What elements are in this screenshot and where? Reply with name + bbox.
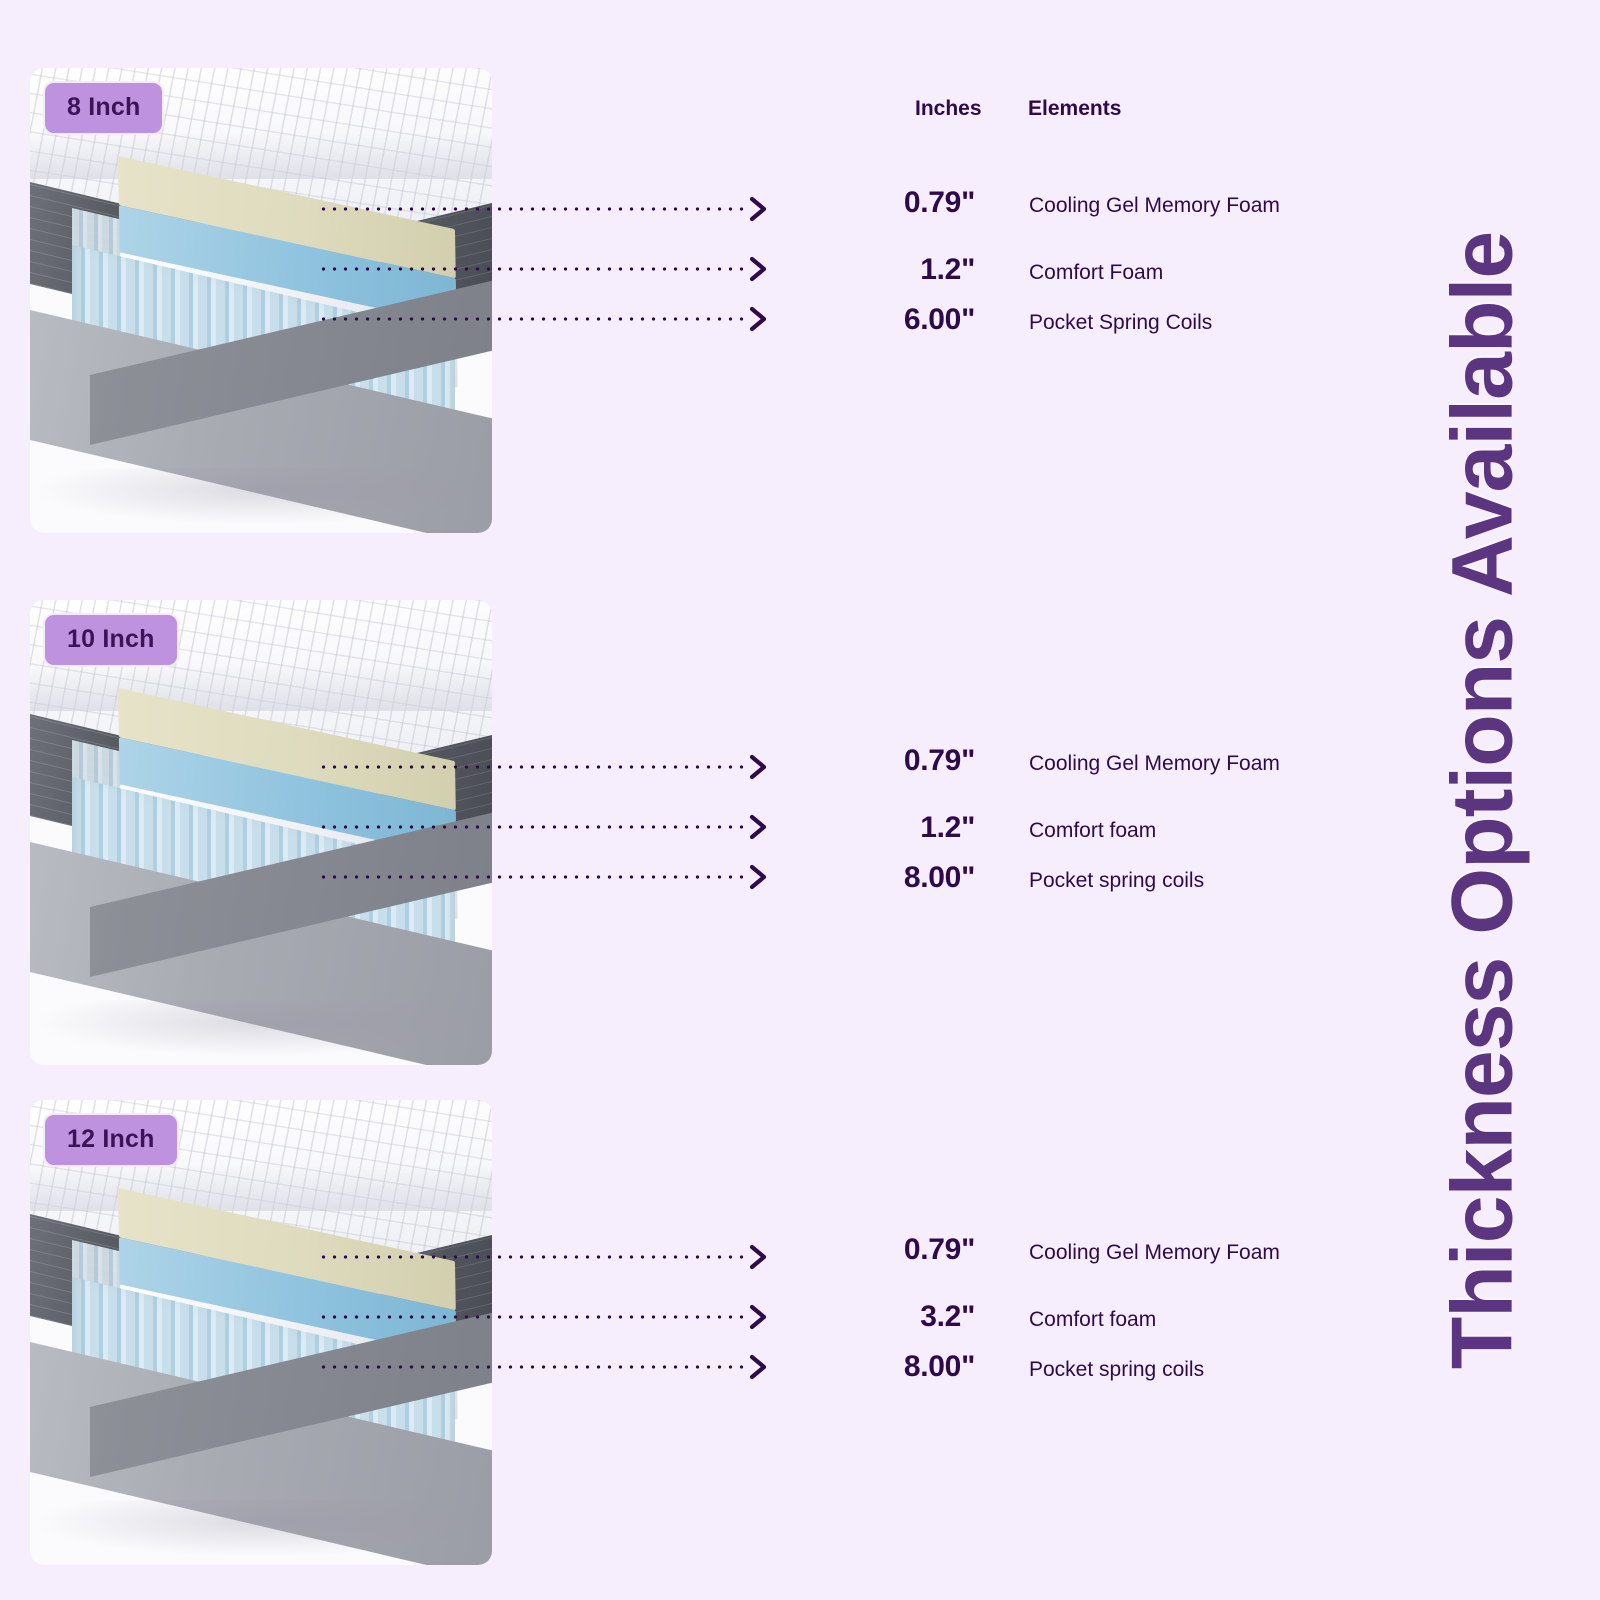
spec-label: Pocket spring coils: [1029, 1358, 1204, 1382]
spec-row-8-3: 6.00" Pocket Spring Coils: [827, 303, 1212, 337]
leader-dots: [318, 875, 747, 879]
mattress-figure: [30, 1100, 492, 1565]
spec-row-10-2: 1.2" Comfort foam: [827, 811, 1156, 845]
spec-value: 0.79": [827, 1233, 975, 1267]
leader-dots: [318, 1315, 747, 1319]
mattress-figure: [30, 600, 492, 1065]
leader-dots: [318, 825, 747, 829]
mattress-illustration-12-inch: 12 Inch: [30, 1100, 492, 1565]
size-badge-12-inch[interactable]: 12 Inch: [43, 1113, 179, 1167]
spec-label: Cooling Gel Memory Foam: [1029, 752, 1280, 776]
floor-shadow: [39, 1000, 483, 1056]
leader-dots: [318, 765, 747, 769]
vertical-headline: Thickness Options Available: [1388, 0, 1578, 1600]
spec-label: Cooling Gel Memory Foam: [1029, 194, 1280, 218]
spec-value: 0.79": [827, 744, 975, 778]
leader-dots: [318, 1365, 747, 1369]
size-badge-10-inch[interactable]: 10 Inch: [43, 613, 179, 667]
spec-row-8-1: 0.79" Cooling Gel Memory Foam: [827, 186, 1280, 220]
spec-value: 8.00": [827, 861, 975, 895]
spec-value: 1.2": [827, 253, 975, 287]
spec-value: 1.2": [827, 811, 975, 845]
floor-shadow: [39, 1500, 483, 1556]
spec-row-12-1: 0.79" Cooling Gel Memory Foam: [827, 1233, 1280, 1267]
arrow-chevron-icon: [748, 1303, 770, 1331]
column-header-inches: Inches: [915, 97, 982, 121]
leader-dots: [318, 317, 747, 321]
leader-line-10-row-3: [318, 875, 770, 879]
column-header-elements: Elements: [1028, 97, 1121, 121]
mattress-illustration-10-inch: 10 Inch: [30, 600, 492, 1065]
leader-line-10-row-2: [318, 825, 770, 829]
spec-label: Pocket spring coils: [1029, 869, 1204, 893]
spec-label: Comfort Foam: [1029, 261, 1163, 285]
leader-line-8-row-1: [318, 207, 770, 211]
spec-row-10-3: 8.00" Pocket spring coils: [827, 861, 1204, 895]
spec-row-8-2: 1.2" Comfort Foam: [827, 253, 1163, 287]
spec-label: Cooling Gel Memory Foam: [1029, 1241, 1280, 1265]
spec-label: Comfort foam: [1029, 1308, 1156, 1332]
arrow-chevron-icon: [748, 195, 770, 223]
arrow-chevron-icon: [748, 255, 770, 283]
leader-line-12-row-3: [318, 1365, 770, 1369]
spec-value: 0.79": [827, 186, 975, 220]
leader-line-8-row-3: [318, 317, 770, 321]
arrow-chevron-icon: [748, 1353, 770, 1381]
arrow-chevron-icon: [748, 305, 770, 333]
leader-line-8-row-2: [318, 267, 770, 271]
leader-dots: [318, 207, 747, 211]
arrow-chevron-icon: [748, 813, 770, 841]
leader-line-12-row-1: [318, 1255, 770, 1259]
spec-label: Pocket Spring Coils: [1029, 311, 1212, 335]
leader-dots: [318, 1255, 747, 1259]
mattress-illustration-8-inch: 8 Inch: [30, 68, 492, 533]
headline-text: Thickness Options Available: [1434, 231, 1533, 1369]
spec-value: 3.2": [827, 1300, 975, 1334]
leader-dots: [318, 267, 747, 271]
spec-row-12-3: 8.00" Pocket spring coils: [827, 1350, 1204, 1384]
leader-line-12-row-2: [318, 1315, 770, 1319]
mattress-figure: [30, 68, 492, 533]
infographic-canvas: 8 Inch Inches Elements 0.79" Cooling Gel…: [0, 0, 1600, 1600]
spec-value: 6.00": [827, 303, 975, 337]
arrow-chevron-icon: [748, 1243, 770, 1271]
floor-shadow: [39, 468, 483, 524]
spec-label: Comfort foam: [1029, 819, 1156, 843]
leader-line-10-row-1: [318, 765, 770, 769]
spec-row-12-2: 3.2" Comfort foam: [827, 1300, 1156, 1334]
spec-row-10-1: 0.79" Cooling Gel Memory Foam: [827, 744, 1280, 778]
arrow-chevron-icon: [748, 863, 770, 891]
arrow-chevron-icon: [748, 753, 770, 781]
spec-value: 8.00": [827, 1350, 975, 1384]
size-badge-8-inch[interactable]: 8 Inch: [43, 81, 164, 135]
